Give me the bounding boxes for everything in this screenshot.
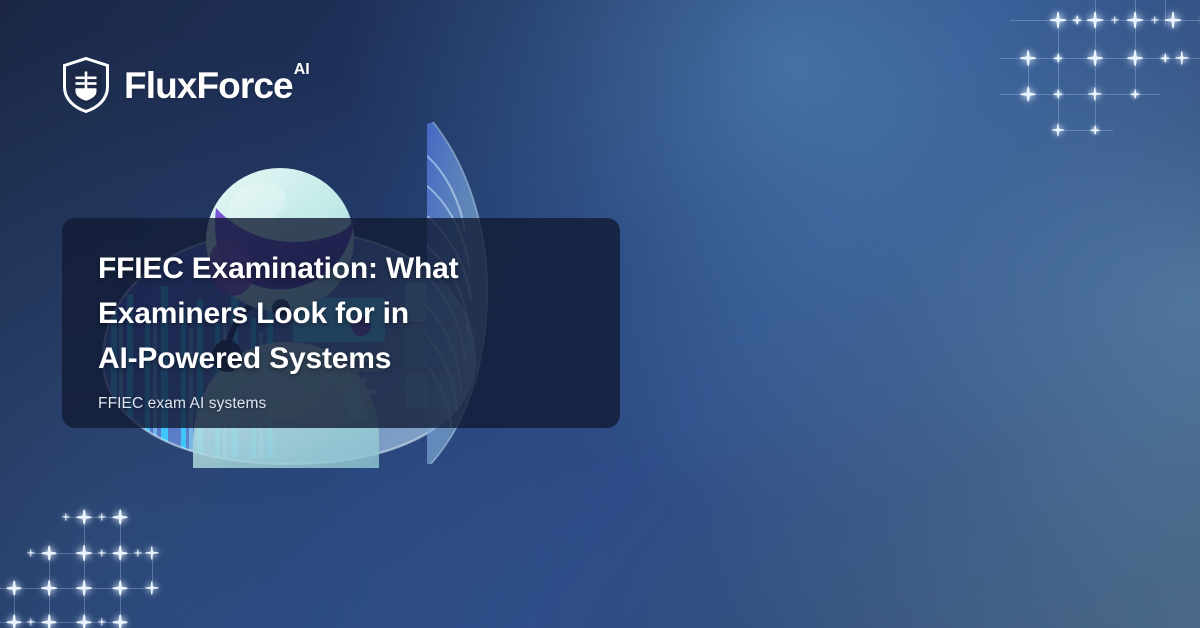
social-share-card: FFIEC Examination: What Examiners Look f…: [0, 0, 1200, 628]
grid-line: [1058, 130, 1113, 131]
brand-wordmark: FluxForceAI: [124, 67, 309, 104]
grid-line: [1165, 0, 1166, 26]
grid-line: [1028, 56, 1029, 96]
grid-line: [120, 515, 121, 628]
page-title: FFIEC Examination: What Examiners Look f…: [98, 246, 586, 381]
grid-line: [14, 586, 15, 628]
page-subtitle: FFIEC exam AI systems: [98, 395, 586, 413]
grid-line: [0, 622, 122, 623]
grid-line: [29, 553, 154, 554]
grid-line: [84, 515, 85, 628]
brand-logo[interactable]: FluxForceAI: [62, 57, 309, 113]
shield-icon: [62, 57, 110, 113]
grid-line: [1010, 20, 1200, 21]
decoration-grid-bottom-left: [0, 492, 184, 628]
grid-line: [1095, 0, 1096, 130]
grid-line: [1058, 18, 1059, 130]
brand-suffix: AI: [294, 61, 310, 78]
grid-line: [0, 588, 154, 589]
grid-line: [152, 551, 153, 589]
grid-line: [1000, 58, 1200, 59]
decoration-grid-top-right: [1010, 0, 1200, 150]
grid-line: [1135, 0, 1136, 96]
brand-name: FluxForce: [124, 65, 293, 106]
hero-text-card: FFIEC Examination: What Examiners Look f…: [62, 218, 620, 428]
grid-line: [1000, 94, 1160, 95]
grid-line: [64, 517, 124, 518]
grid-line: [49, 551, 50, 628]
